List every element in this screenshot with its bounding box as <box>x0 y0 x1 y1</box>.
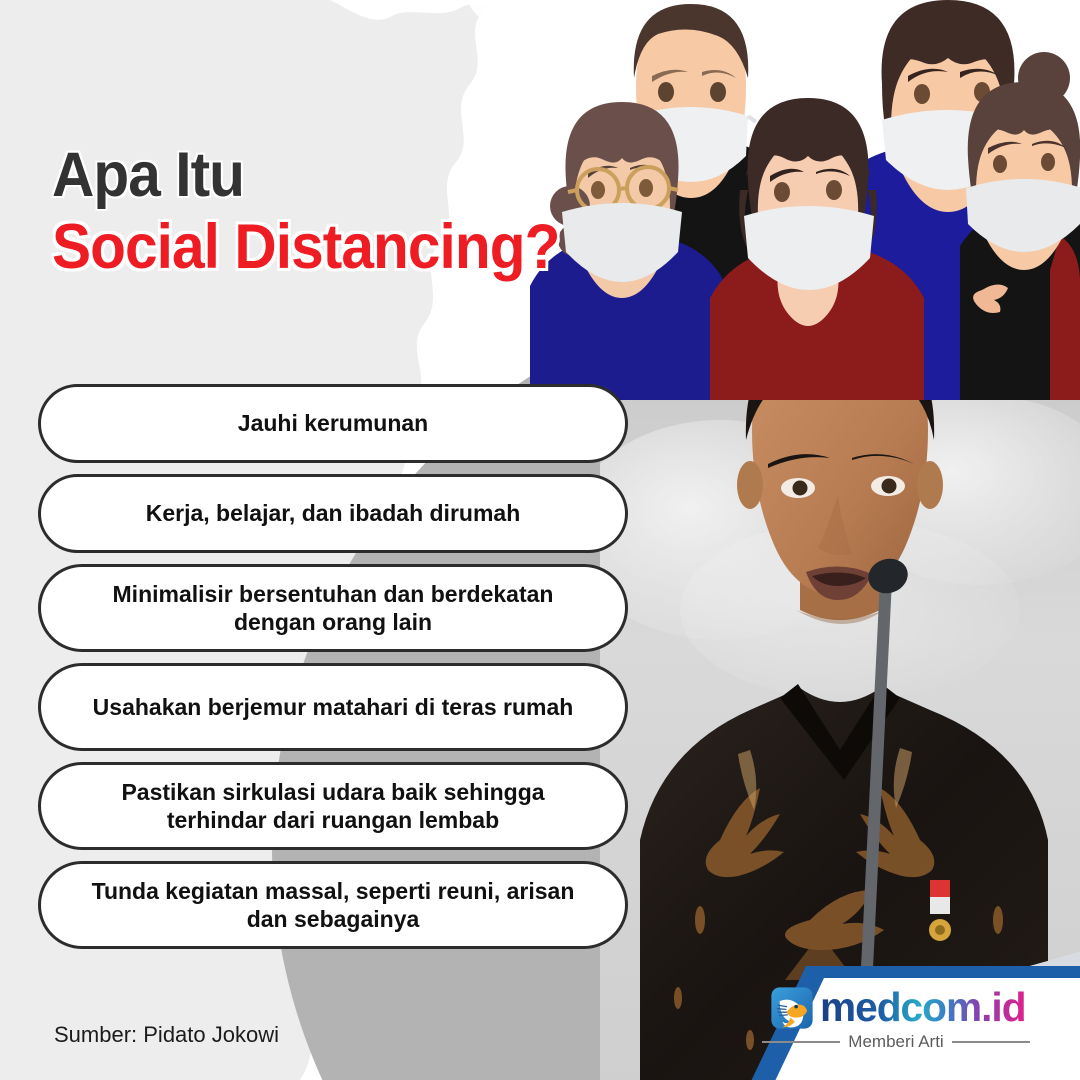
medcom-wordmark: medcom.id <box>820 986 1048 1030</box>
list-item: Usahakan berjemur matahari di teras ruma… <box>38 663 628 751</box>
logo-tagline: Memberi Arti <box>848 1032 943 1052</box>
infographic-poster: Apa Itu Social Distancing? Jauhi kerumun… <box>0 0 1080 1080</box>
tips-list: Jauhi kerumunan Kerja, belajar, dan ibad… <box>38 384 628 949</box>
tagline-rule-right <box>952 1041 1030 1043</box>
list-item: Jauhi kerumunan <box>38 384 628 463</box>
list-item: Pastikan sirkulasi udara baik sehingga t… <box>38 762 628 850</box>
eagle-head-icon <box>770 986 814 1030</box>
tagline-rule-left <box>762 1041 840 1043</box>
page-title: Apa Itu Social Distancing? <box>52 142 598 283</box>
masked-people-illustration <box>530 0 1080 400</box>
svg-text:medcom.id: medcom.id <box>820 986 1026 1030</box>
person-woman-bun-mask <box>960 52 1080 400</box>
medcom-logo-banner: medcom.id Memberi Arti <box>720 960 1080 1080</box>
list-item: Kerja, belajar, dan ibadah dirumah <box>38 474 628 553</box>
logo-lockup: medcom.id <box>770 986 1048 1030</box>
list-item: Minimalisir bersentuhan dan berdekatan d… <box>38 564 628 652</box>
source-credit: Sumber: Pidato Jokowi <box>54 1022 279 1048</box>
logo-tagline-row: Memberi Arti <box>762 1032 1030 1052</box>
list-item: Tunda kegiatan massal, seperti reuni, ar… <box>38 861 628 949</box>
title-line-2: Social Distancing? <box>52 212 559 283</box>
title-line-1: Apa Itu <box>52 142 559 208</box>
